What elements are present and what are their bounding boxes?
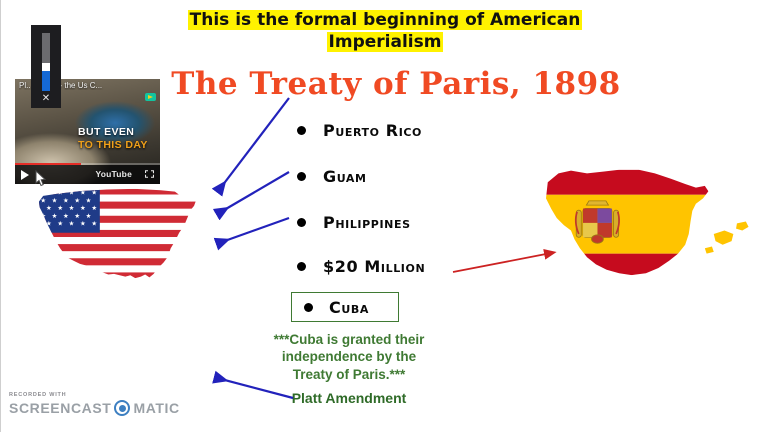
svg-text:★: ★	[80, 204, 86, 212]
svg-text:★: ★	[86, 196, 92, 204]
svg-text:★: ★	[46, 220, 52, 228]
svg-text:★: ★	[69, 220, 75, 228]
list-item-label: $20 Million	[323, 257, 425, 276]
headline-line-1-text: This is the formal beginning of American	[188, 10, 583, 30]
svg-text:★: ★	[46, 204, 52, 212]
svg-text:★: ★	[80, 220, 86, 228]
list-item-label: Guam	[323, 167, 367, 186]
svg-text:★: ★	[74, 196, 80, 204]
svg-text:★: ★	[80, 189, 86, 197]
headline-line-1: This is the formal beginning of American	[1, 10, 768, 31]
svg-text:★: ★	[91, 189, 97, 197]
page-title: The Treaty of Paris, 1898	[161, 66, 631, 102]
svg-text:★: ★	[35, 220, 41, 228]
bullet-dot-icon	[297, 172, 306, 181]
spain-flag-map	[521, 156, 753, 296]
svg-text:★: ★	[74, 212, 80, 220]
video-caption-line-1: BUT EVEN	[78, 126, 134, 138]
list-item: Guam	[297, 167, 367, 186]
watermark-dot-icon	[119, 405, 126, 412]
svg-text:★: ★	[63, 196, 69, 204]
svg-text:★: ★	[35, 204, 41, 212]
headline-line-2: Imperialism	[1, 32, 768, 53]
slide-canvas: This is the formal beginning of American…	[0, 0, 768, 432]
bullet-dot-icon	[297, 218, 306, 227]
svg-text:★: ★	[52, 196, 58, 204]
list-item: $20 Million	[297, 257, 425, 276]
watermark-word-matic: MATIC	[133, 400, 179, 416]
svg-text:★: ★	[57, 204, 63, 212]
watermark-ring-icon	[114, 400, 130, 416]
watermark-logo: SCREENCAST MATIC	[9, 400, 180, 416]
svg-text:★: ★	[91, 220, 97, 228]
list-item: Philippines	[297, 213, 411, 232]
mouse-cursor-icon	[32, 170, 48, 190]
bullet-dot-icon	[297, 126, 306, 135]
arrow-puerto-rico-to-us	[219, 98, 289, 190]
united-states-flag-map: ★★★ ★★★ ★★★ ★★ ★★★ ★★★ ★★★ ★★ ★★★ ★★★	[29, 178, 199, 296]
play-icon[interactable]	[21, 170, 29, 180]
bullet-dot-icon	[304, 303, 313, 312]
arrow-philippines-to-us	[219, 218, 289, 243]
volume-slider-fill	[42, 70, 50, 91]
screencast-o-matic-watermark: RECORDED WITH SCREENCAST MATIC	[9, 392, 180, 422]
watermark-word-screencast: SCREENCAST	[9, 400, 111, 416]
platt-amendment-label: Platt Amendment	[263, 390, 435, 406]
close-icon[interactable]: ✕	[31, 93, 61, 104]
svg-text:★: ★	[63, 212, 69, 220]
headline-line-2-text: Imperialism	[327, 32, 444, 52]
volume-slider-thumb[interactable]	[42, 63, 50, 71]
svg-text:★: ★	[57, 220, 63, 228]
fullscreen-icon[interactable]	[145, 170, 154, 178]
cuba-highlight-box: Cuba	[291, 292, 399, 322]
youtube-brand-label: YouTube	[96, 169, 133, 179]
svg-text:★: ★	[40, 196, 46, 204]
cuba-note: ***Cuba is granted their independence by…	[263, 331, 435, 383]
svg-text:★: ★	[69, 204, 75, 212]
watermark-caption: RECORDED WITH	[9, 392, 180, 398]
svg-text:★: ★	[52, 212, 58, 220]
svg-text:★: ★	[40, 212, 46, 220]
list-item: Puerto Rico	[297, 121, 422, 140]
bullet-dot-icon	[297, 262, 306, 271]
video-caption-line-2: TO THIS DAY	[78, 139, 148, 151]
svg-text:★: ★	[86, 212, 92, 220]
svg-text:★: ★	[69, 189, 75, 197]
list-item-label: Philippines	[323, 213, 411, 232]
volume-slider-popup[interactable]: ✕	[31, 25, 61, 108]
arrow-guam-to-us	[219, 172, 289, 213]
svg-text:★: ★	[91, 204, 97, 212]
svg-text:★: ★	[57, 189, 63, 197]
cuba-label: Cuba	[329, 298, 369, 317]
channel-badge-icon	[145, 93, 156, 101]
list-item-label: Puerto Rico	[323, 121, 422, 140]
